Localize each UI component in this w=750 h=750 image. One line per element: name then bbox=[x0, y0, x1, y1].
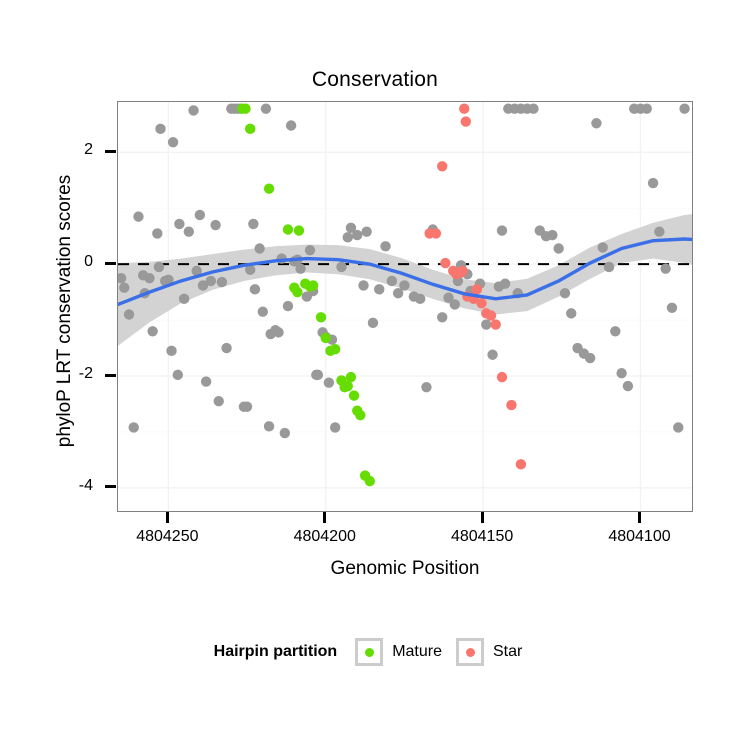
data-point bbox=[201, 376, 211, 386]
data-point bbox=[173, 370, 183, 380]
x-tick-label: 4804250 bbox=[107, 528, 227, 546]
data-point bbox=[188, 105, 198, 115]
x-tick bbox=[323, 512, 326, 523]
data-point bbox=[206, 276, 216, 286]
x-tick bbox=[638, 512, 641, 523]
data-point bbox=[560, 288, 570, 298]
legend-key bbox=[355, 638, 383, 666]
data-point bbox=[431, 228, 441, 238]
data-point bbox=[346, 372, 356, 382]
data-point bbox=[399, 280, 409, 290]
data-point bbox=[516, 459, 526, 469]
data-point bbox=[261, 104, 271, 114]
data-point bbox=[368, 318, 378, 328]
data-point bbox=[547, 230, 557, 240]
x-tick bbox=[481, 512, 484, 523]
data-point bbox=[168, 137, 178, 147]
data-point bbox=[283, 224, 293, 234]
page-title: Conservation bbox=[0, 68, 750, 92]
data-point bbox=[119, 282, 129, 292]
data-point bbox=[184, 227, 194, 237]
y-tick bbox=[105, 485, 116, 488]
data-point bbox=[598, 242, 608, 252]
y-tick-label: -4 bbox=[79, 477, 93, 495]
data-point bbox=[476, 298, 486, 308]
data-point bbox=[472, 284, 482, 294]
legend-item-star[interactable]: Star bbox=[456, 638, 522, 666]
data-point bbox=[166, 346, 176, 356]
data-point bbox=[330, 422, 340, 432]
data-point bbox=[210, 220, 220, 230]
data-point bbox=[343, 381, 353, 391]
x-axis-title: Genomic Position bbox=[117, 558, 693, 580]
data-point bbox=[487, 350, 497, 360]
data-point bbox=[295, 263, 305, 273]
legend-title: Hairpin partition bbox=[214, 643, 338, 661]
data-point bbox=[321, 333, 331, 343]
y-axis-title: phyloP LRT conservation scores bbox=[54, 101, 76, 521]
data-point bbox=[155, 124, 165, 134]
data-point bbox=[240, 104, 250, 114]
plot-svg bbox=[118, 102, 693, 512]
data-point bbox=[147, 326, 157, 336]
data-point bbox=[365, 476, 375, 486]
data-point bbox=[481, 319, 491, 329]
data-point bbox=[133, 211, 143, 221]
y-tick bbox=[105, 150, 116, 153]
data-point bbox=[486, 310, 496, 320]
data-point bbox=[152, 228, 162, 238]
data-point bbox=[221, 343, 231, 353]
data-point bbox=[654, 227, 664, 237]
data-point bbox=[254, 243, 264, 253]
data-point bbox=[553, 243, 563, 253]
data-point bbox=[500, 279, 510, 289]
data-point bbox=[129, 422, 139, 432]
data-point bbox=[387, 276, 397, 286]
data-point bbox=[415, 294, 425, 304]
x-tick-label: 4804150 bbox=[422, 528, 542, 546]
data-point bbox=[349, 390, 359, 400]
x-tick-label: 4804100 bbox=[579, 528, 699, 546]
data-point bbox=[330, 344, 340, 354]
x-tick-label: 4804200 bbox=[265, 528, 385, 546]
data-point bbox=[506, 400, 516, 410]
data-point bbox=[623, 381, 633, 391]
data-point bbox=[280, 428, 290, 438]
data-point bbox=[355, 410, 365, 420]
data-point bbox=[642, 104, 652, 114]
data-point bbox=[421, 382, 431, 392]
legend-label: Mature bbox=[392, 643, 442, 661]
data-point bbox=[352, 230, 362, 240]
plot-panel bbox=[117, 101, 693, 512]
data-point bbox=[336, 262, 346, 272]
data-point bbox=[437, 312, 447, 322]
data-point bbox=[217, 277, 227, 287]
data-point bbox=[195, 210, 205, 220]
data-point bbox=[374, 284, 384, 294]
data-point bbox=[294, 225, 304, 235]
data-point bbox=[673, 422, 683, 432]
legend: Hairpin partition MatureStar bbox=[0, 638, 750, 666]
data-point bbox=[316, 312, 326, 322]
data-point bbox=[566, 308, 576, 318]
legend-key bbox=[456, 638, 484, 666]
y-tick-label: -2 bbox=[79, 365, 93, 383]
data-point bbox=[124, 309, 134, 319]
data-point bbox=[144, 273, 154, 283]
data-point bbox=[174, 219, 184, 229]
data-point bbox=[343, 232, 353, 242]
data-point bbox=[380, 241, 390, 251]
data-point bbox=[245, 124, 255, 134]
data-point bbox=[497, 225, 507, 235]
data-point bbox=[264, 183, 274, 193]
data-point bbox=[361, 227, 371, 237]
data-point bbox=[440, 258, 450, 268]
y-tick-label: 0 bbox=[84, 253, 93, 271]
legend-item-mature[interactable]: Mature bbox=[355, 638, 442, 666]
panel-background bbox=[118, 102, 693, 512]
data-point bbox=[585, 353, 595, 363]
data-point bbox=[273, 327, 283, 337]
chart-root: Conservation phyloP LRT conservation sco… bbox=[0, 0, 750, 750]
data-point bbox=[283, 301, 293, 311]
x-tick bbox=[166, 512, 169, 523]
data-point bbox=[248, 219, 258, 229]
legend-label: Star bbox=[493, 643, 522, 661]
data-point bbox=[264, 421, 274, 431]
data-point bbox=[250, 284, 260, 294]
data-point bbox=[242, 402, 252, 412]
data-point bbox=[437, 161, 447, 171]
data-point bbox=[305, 245, 315, 255]
data-point bbox=[604, 262, 614, 272]
data-point bbox=[457, 266, 467, 276]
data-point bbox=[616, 368, 626, 378]
data-point bbox=[679, 104, 689, 114]
legend-items: MatureStar bbox=[355, 638, 536, 666]
legend-dot-icon bbox=[466, 648, 475, 657]
data-point bbox=[154, 262, 164, 272]
data-point bbox=[286, 120, 296, 130]
y-tick-label: 2 bbox=[84, 141, 93, 159]
data-point bbox=[491, 319, 501, 329]
legend-dot-icon bbox=[365, 648, 374, 657]
data-point bbox=[450, 299, 460, 309]
data-point bbox=[358, 280, 368, 290]
data-point bbox=[610, 326, 620, 336]
data-point bbox=[308, 280, 318, 290]
data-point bbox=[324, 378, 334, 388]
data-point bbox=[461, 116, 471, 126]
data-point bbox=[179, 294, 189, 304]
data-point bbox=[667, 303, 677, 313]
data-point bbox=[292, 287, 302, 297]
data-point bbox=[459, 104, 469, 114]
data-point bbox=[258, 306, 268, 316]
data-point bbox=[591, 118, 601, 128]
data-point bbox=[648, 178, 658, 188]
data-point bbox=[311, 370, 321, 380]
data-point bbox=[497, 372, 507, 382]
y-tick bbox=[105, 374, 116, 377]
data-point bbox=[214, 396, 224, 406]
y-tick bbox=[105, 262, 116, 265]
data-point bbox=[528, 104, 538, 114]
data-point bbox=[660, 263, 670, 273]
